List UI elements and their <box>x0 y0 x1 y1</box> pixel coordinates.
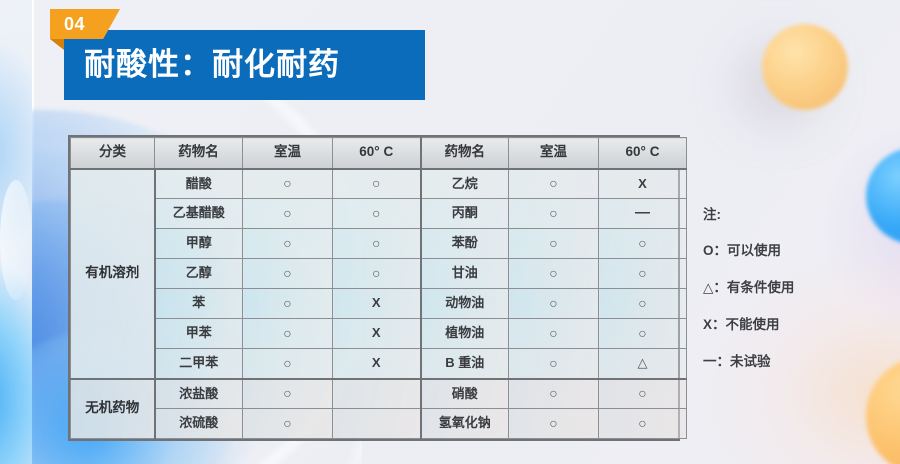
rating-60c-right-value: ○ <box>638 325 646 341</box>
rating-room-temp-left: ○ <box>243 379 333 409</box>
chemical-name-right-value: 丙酮 <box>452 205 478 220</box>
chemical-name-left-value: 甲苯 <box>186 325 212 340</box>
rating-room-temp-left: ○ <box>243 259 333 289</box>
rating-room-temp-left-value: ○ <box>283 325 291 341</box>
rating-60c-right: ○ <box>599 379 687 409</box>
column-header-chemical-right: 药物名 <box>421 138 509 169</box>
rating-60c-right-value: X <box>638 176 647 191</box>
rating-60c-right: X <box>599 169 687 199</box>
category-cell: 无机药物 <box>71 379 155 439</box>
legend-heading: 注: <box>703 203 873 223</box>
legend-item-conditional: △：有条件使用 <box>703 276 873 296</box>
rating-room-temp-right-value: ○ <box>549 415 557 431</box>
rating-60c-right: ○ <box>599 289 687 319</box>
chemical-name-left: 乙醇 <box>155 259 243 289</box>
chemical-name-left-value: 醋酸 <box>186 176 212 191</box>
rating-room-temp-right: ○ <box>509 409 599 439</box>
rating-60c-left: ○ <box>333 229 421 259</box>
chemical-name-left-value: 苯 <box>192 295 205 310</box>
rating-60c-left-value: ○ <box>372 265 380 281</box>
legend: 注: O：可以使用 △：有条件使用 X：不能使用 一：未试验 <box>703 203 873 387</box>
chemical-name-right: B 重油 <box>421 349 509 379</box>
column-header-60c-right: 60° C <box>599 138 687 169</box>
rating-room-temp-right-value: ○ <box>549 205 557 221</box>
chemical-name-left: 醋酸 <box>155 169 243 199</box>
chemical-name-left: 浓盐酸 <box>155 379 243 409</box>
rating-room-temp-right: ○ <box>509 289 599 319</box>
table-row: 无机药物浓盐酸○硝酸○○ <box>71 379 687 409</box>
rating-room-temp-right-value: ○ <box>549 235 557 251</box>
rating-60c-right: △ <box>599 349 687 379</box>
chemical-name-left-value: 二甲苯 <box>179 355 218 370</box>
legend-item-untested: 一：未试验 <box>703 350 873 370</box>
rating-room-temp-left-value: ○ <box>283 385 291 401</box>
rating-60c-right-value: ○ <box>638 235 646 251</box>
column-header-category: 分类 <box>71 138 155 169</box>
chemical-name-right-value: 氢氧化钠 <box>439 415 491 430</box>
chemical-name-right: 氢氧化钠 <box>421 409 509 439</box>
rating-room-temp-right: ○ <box>509 199 599 229</box>
rating-60c-right-value: ○ <box>638 415 646 431</box>
rating-room-temp-right: ○ <box>509 319 599 349</box>
legend-item-usable: O：可以使用 <box>703 239 873 259</box>
chemical-name-right-value: 苯酚 <box>452 235 478 250</box>
rating-room-temp-left: ○ <box>243 199 333 229</box>
column-header-60c-left: 60° C <box>333 138 421 169</box>
chemical-name-left: 苯 <box>155 289 243 319</box>
chemical-name-left: 甲醇 <box>155 229 243 259</box>
legend-item-not-usable: X：不能使用 <box>703 313 873 333</box>
rating-room-temp-left: ○ <box>243 289 333 319</box>
rating-60c-right: ○ <box>599 259 687 289</box>
rating-room-temp-right: ○ <box>509 349 599 379</box>
chemical-name-right-value: 动物油 <box>445 295 484 310</box>
page-title-banner: 耐酸性：耐化耐药 <box>64 30 425 100</box>
rating-room-temp-left: ○ <box>243 319 333 349</box>
chemical-name-left: 浓硫酸 <box>155 409 243 439</box>
rating-60c-left-value: ○ <box>372 175 380 191</box>
chemical-name-left-value: 乙醇 <box>186 265 212 280</box>
background-left-strip <box>0 0 32 464</box>
chemical-name-right-value: 植物油 <box>445 325 484 340</box>
chemical-name-left-value: 甲醇 <box>186 235 212 250</box>
rating-60c-left <box>333 409 421 439</box>
chemical-resistance-table-wrapper: 分类 药物名 室温 60° C 药物名 室温 60° C 有机溶剂醋酸○○乙烷○… <box>68 135 680 441</box>
rating-60c-right-value: ○ <box>638 295 646 311</box>
table-row: 苯○X动物油○○ <box>71 289 687 319</box>
chemical-name-right: 硝酸 <box>421 379 509 409</box>
slide-canvas: 04 耐酸性：耐化耐药 分类 药物名 室温 60° C 药物名 室温 60° C <box>0 0 900 464</box>
rating-room-temp-right-value: ○ <box>549 265 557 281</box>
chemical-name-left: 二甲苯 <box>155 349 243 379</box>
rating-60c-left: ○ <box>333 259 421 289</box>
chemical-name-left-value: 浓硫酸 <box>179 415 218 430</box>
chemical-name-right: 苯酚 <box>421 229 509 259</box>
rating-60c-left-value: X <box>372 295 381 310</box>
rating-room-temp-right-value: ○ <box>549 325 557 341</box>
table-row: 乙醇○○甘油○○ <box>71 259 687 289</box>
chemical-name-left-value: 浓盐酸 <box>179 386 218 401</box>
rating-room-temp-left-value: ○ <box>283 235 291 251</box>
rating-room-temp-right: ○ <box>509 169 599 199</box>
chemical-name-right-value: 乙烷 <box>452 176 478 191</box>
rating-room-temp-left: ○ <box>243 169 333 199</box>
rating-room-temp-left-value: ○ <box>283 265 291 281</box>
chemical-name-right: 植物油 <box>421 319 509 349</box>
table-header-row: 分类 药物名 室温 60° C 药物名 室温 60° C <box>71 138 687 169</box>
rating-room-temp-right-value: ○ <box>549 385 557 401</box>
rating-room-temp-left-value: ○ <box>283 415 291 431</box>
table-header: 分类 药物名 室温 60° C 药物名 室温 60° C <box>71 138 687 169</box>
rating-60c-left <box>333 379 421 409</box>
table-row: 乙基醋酸○○丙酮○— <box>71 199 687 229</box>
rating-60c-right: — <box>599 199 687 229</box>
rating-60c-right: ○ <box>599 409 687 439</box>
chemical-name-right: 乙烷 <box>421 169 509 199</box>
rating-60c-right-value: — <box>635 204 650 221</box>
rating-room-temp-left-value: ○ <box>283 175 291 191</box>
chemical-name-left: 甲苯 <box>155 319 243 349</box>
chemical-name-left-value: 乙基醋酸 <box>173 205 225 220</box>
rating-60c-right: ○ <box>599 229 687 259</box>
rating-room-temp-left-value: ○ <box>283 355 291 371</box>
panel-edge-divider <box>32 0 34 464</box>
rating-room-temp-right: ○ <box>509 259 599 289</box>
rating-room-temp-right-value: ○ <box>549 355 557 371</box>
rating-room-temp-left-value: ○ <box>283 205 291 221</box>
chemical-name-right-value: 硝酸 <box>452 386 478 401</box>
chemical-name-left: 乙基醋酸 <box>155 199 243 229</box>
rating-60c-left-value: X <box>372 325 381 340</box>
rating-60c-right-value: ○ <box>638 265 646 281</box>
chemical-resistance-table: 分类 药物名 室温 60° C 药物名 室温 60° C 有机溶剂醋酸○○乙烷○… <box>70 137 687 439</box>
rating-room-temp-left-value: ○ <box>283 295 291 311</box>
table-row: 甲醇○○苯酚○○ <box>71 229 687 259</box>
rating-60c-right-value: △ <box>638 355 648 370</box>
chemical-name-right: 丙酮 <box>421 199 509 229</box>
rating-60c-left: X <box>333 289 421 319</box>
table-row: 甲苯○X植物油○○ <box>71 319 687 349</box>
rating-60c-left: ○ <box>333 199 421 229</box>
rating-room-temp-right-value: ○ <box>549 175 557 191</box>
rating-room-temp-left: ○ <box>243 229 333 259</box>
rating-room-temp-right: ○ <box>509 229 599 259</box>
page-title: 耐酸性：耐化耐药 <box>64 30 425 100</box>
rating-room-temp-right-value: ○ <box>549 295 557 311</box>
rating-room-temp-left: ○ <box>243 409 333 439</box>
chemical-name-right: 动物油 <box>421 289 509 319</box>
chemical-name-right: 甘油 <box>421 259 509 289</box>
category-cell: 有机溶剂 <box>71 169 155 379</box>
rating-room-temp-left: ○ <box>243 349 333 379</box>
rating-room-temp-right: ○ <box>509 379 599 409</box>
rating-60c-left: X <box>333 349 421 379</box>
chemical-name-right-value: B 重油 <box>445 355 484 370</box>
rating-60c-left-value: ○ <box>372 235 380 251</box>
rating-60c-right: ○ <box>599 319 687 349</box>
table-body: 有机溶剂醋酸○○乙烷○X乙基醋酸○○丙酮○—甲醇○○苯酚○○乙醇○○甘油○○苯○… <box>71 169 687 439</box>
chemical-name-right-value: 甘油 <box>452 265 478 280</box>
rating-60c-left-value: X <box>372 355 381 370</box>
column-header-room-temp-left: 室温 <box>243 138 333 169</box>
rating-60c-left-value: ○ <box>372 205 380 221</box>
column-header-chemical-left: 药物名 <box>155 138 243 169</box>
rating-60c-right-value: ○ <box>638 385 646 401</box>
table-row: 有机溶剂醋酸○○乙烷○X <box>71 169 687 199</box>
rating-60c-left: ○ <box>333 169 421 199</box>
table-row: 二甲苯○XB 重油○△ <box>71 349 687 379</box>
table-row: 浓硫酸○氢氧化钠○○ <box>71 409 687 439</box>
column-header-room-temp-right: 室温 <box>509 138 599 169</box>
rating-60c-left: X <box>333 319 421 349</box>
